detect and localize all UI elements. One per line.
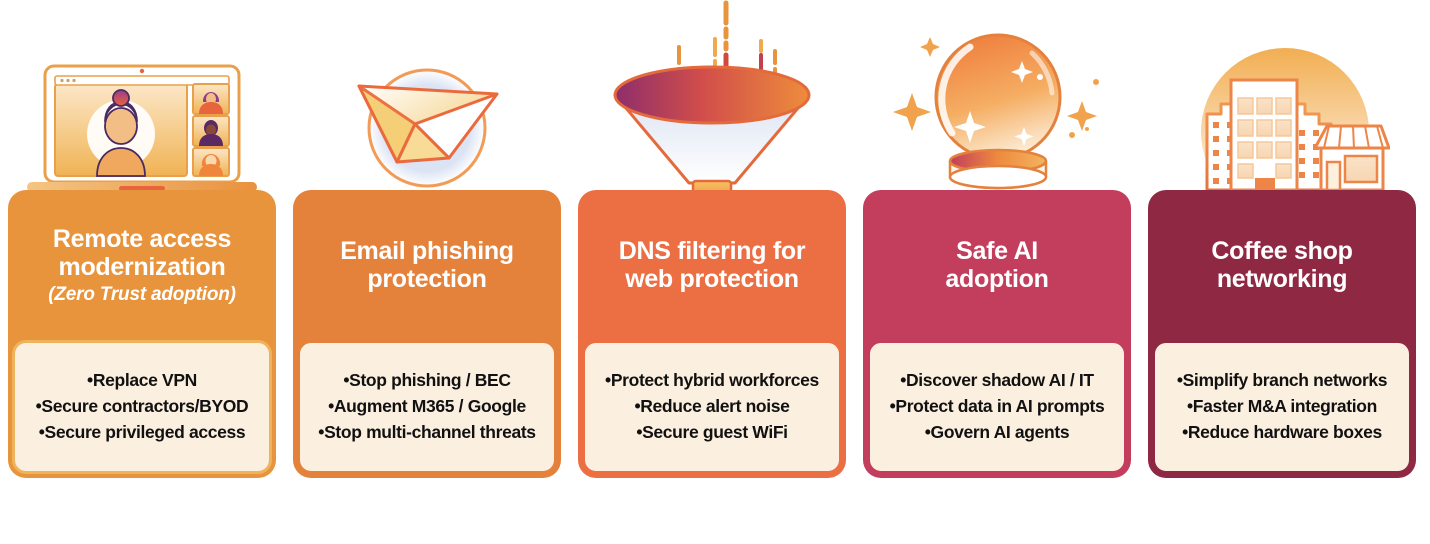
card-header: DNS filtering for web protection [578,190,846,340]
card-title-line2: web protection [625,265,799,293]
bullet-list: •Replace VPN •Secure contractors/BYOD •S… [19,368,265,446]
card-header: Safe AI adoption [863,190,1131,340]
card-body: •Stop phishing / BEC •Augment M365 / Goo… [297,340,557,474]
card-surface: DNS filtering for web protection •Protec… [578,190,846,478]
card-subtitle: (Zero Trust adoption) [48,284,236,306]
list-item: •Stop multi-channel threats [304,420,550,446]
laptop-video-call-icon [0,0,284,200]
card-title: Remote access modernization [53,225,231,282]
card-remote-access-modernization[interactable]: Remote access modernization (Zero Trust … [0,0,284,500]
card-header: Remote access modernization (Zero Trust … [8,190,276,340]
list-item: •Replace VPN [19,368,265,394]
card-body: •Discover shadow AI / IT •Protect data i… [867,340,1127,474]
card-body: •Protect hybrid workforces •Reduce alert… [582,340,842,474]
card-coffee-shop-networking[interactable]: Coffee shop networking •Simplify branch … [1140,0,1424,500]
bullet-list: •Protect hybrid workforces •Reduce alert… [589,368,835,446]
card-surface: Remote access modernization (Zero Trust … [8,190,276,478]
funnel-filter-icon [570,0,854,200]
card-title-line1: Coffee shop [1211,237,1352,265]
list-item: •Stop phishing / BEC [304,368,550,394]
card-title: Safe AI adoption [945,237,1048,294]
card-title-line1: Remote access [53,225,231,253]
list-item: •Govern AI agents [874,420,1120,446]
card-safe-ai-adoption[interactable]: Safe AI adoption •Discover shadow AI / I… [855,0,1139,500]
list-item: •Secure guest WiFi [589,420,835,446]
card-body: •Replace VPN •Secure contractors/BYOD •S… [12,340,272,474]
card-title: Coffee shop networking [1211,237,1352,294]
list-item: •Secure privileged access [19,420,265,446]
crystal-ball-icon [855,0,1139,200]
list-item: •Simplify branch networks [1159,368,1405,394]
card-title-line2: modernization [59,253,226,281]
paper-plane-icon [285,0,569,200]
infographic-board: Remote access modernization (Zero Trust … [0,0,1430,544]
bullet-list: •Stop phishing / BEC •Augment M365 / Goo… [304,368,550,446]
list-item: •Secure contractors/BYOD [19,394,265,420]
card-header: Email phishing protection [293,190,561,340]
bullet-list: •Simplify branch networks •Faster M&A in… [1159,368,1405,446]
card-title-line1: Email phishing [340,237,514,265]
list-item: •Protect data in AI prompts [874,394,1120,420]
list-item: •Discover shadow AI / IT [874,368,1120,394]
list-item: •Protect hybrid workforces [589,368,835,394]
list-item: •Augment M365 / Google [304,394,550,420]
card-email-phishing-protection[interactable]: Email phishing protection •Stop phishing… [285,0,569,500]
card-header: Coffee shop networking [1148,190,1416,340]
card-surface: Coffee shop networking •Simplify branch … [1148,190,1416,478]
card-dns-filtering-web-protection[interactable]: DNS filtering for web protection •Protec… [570,0,854,500]
card-title: Email phishing protection [340,237,514,294]
card-title-line1: DNS filtering for [619,237,806,265]
card-surface: Safe AI adoption •Discover shadow AI / I… [863,190,1131,478]
bullet-list: •Discover shadow AI / IT •Protect data i… [874,368,1120,446]
list-item: •Faster M&A integration [1159,394,1405,420]
card-title-line2: protection [367,265,486,293]
list-item: •Reduce hardware boxes [1159,420,1405,446]
card-title: DNS filtering for web protection [619,237,806,294]
city-buildings-storefront-icon [1140,0,1424,200]
card-body: •Simplify branch networks •Faster M&A in… [1152,340,1412,474]
card-title-line2: adoption [945,265,1048,293]
card-title-line1: Safe AI [956,237,1038,265]
card-surface: Email phishing protection •Stop phishing… [293,190,561,478]
card-title-line2: networking [1217,265,1347,293]
list-item: •Reduce alert noise [589,394,835,420]
